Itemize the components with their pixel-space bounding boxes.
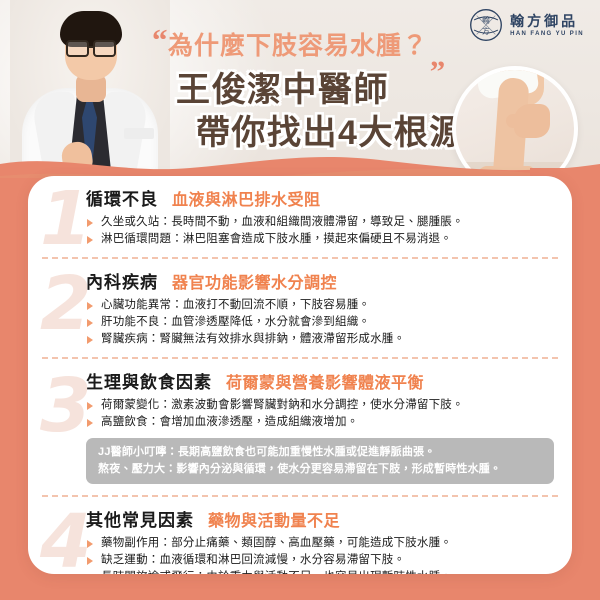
section-1-accent: 血液與淋巴排水受阻 bbox=[172, 186, 321, 210]
note-line: JJ醫師小叮嚀：長期高鹽飲食也可能加重慢性水腫或促進靜脈曲張。 bbox=[98, 444, 542, 461]
headline-question: 為什麼下肢容易水腫？ bbox=[168, 26, 436, 62]
section-2-bullets: 心臟功能異常：血液打不動回流不順，下肢容易腫。 肝功能不良：血管滲透壓降低，水分… bbox=[86, 297, 554, 348]
content-card: 1 循環不良 血液與淋巴排水受阻 久坐或久站：長時間不動，血液和組織間液體滯留，… bbox=[28, 176, 572, 574]
list-item: 久坐或久站：長時間不動，血液和組織間液體滯留，導致足、腿腫脹。 bbox=[86, 214, 554, 231]
section-4: 4 其他常見因素 藥物與活動量不足 藥物副作用：部分止痛藥、類固醇、高血壓藥，可… bbox=[28, 497, 572, 574]
section-4-headings: 其他常見因素 藥物與活動量不足 bbox=[86, 506, 554, 531]
section-1-heading: 循環不良 bbox=[86, 185, 158, 210]
section-3-headings: 生理與飲食因素 荷爾蒙與營養影響體液平衡 bbox=[86, 368, 554, 393]
header-banner: “ 為什麼下肢容易水腫？ „ 王俊潔中醫師 帶你找出4大根源！ 翰 bbox=[0, 0, 600, 178]
brand-wordmark: 翰方御品 HAN FANG YU PIN bbox=[510, 14, 584, 37]
section-2-headings: 內科疾病 器官功能影響水分調控 bbox=[86, 268, 554, 293]
brand-name-cn: 翰方御品 bbox=[510, 14, 578, 28]
section-number-3: 3 bbox=[40, 369, 92, 443]
section-3-bullets: 荷爾蒙變化：激素波動會影響腎臟對鈉和水分調控，使水分滯留下肢。 高鹽飲食：會增加… bbox=[86, 397, 554, 431]
list-item: 藥物副作用：部分止痛藥、類固醇、高血壓藥，可能造成下肢水腫。 bbox=[86, 535, 554, 552]
doctor-name-badge bbox=[124, 128, 154, 139]
section-1-headings: 循環不良 血液與淋巴排水受阻 bbox=[86, 185, 554, 210]
seal-char-1: 翰 bbox=[482, 14, 490, 24]
section-3-heading: 生理與飲食因素 bbox=[86, 368, 212, 393]
section-3: 3 生理與飲食因素 荷爾蒙與營養影響體液平衡 荷爾蒙變化：激素波動會影響腎臟對鈉… bbox=[28, 359, 572, 495]
section-2-body: 內科疾病 器官功能影響水分調控 心臟功能異常：血液打不動回流不順，下肢容易腫。 … bbox=[28, 259, 572, 357]
headline-doctor-name: 王俊潔中醫師 bbox=[176, 62, 389, 111]
seal-emblem-icon: 翰 方 bbox=[469, 8, 503, 42]
brand-name-en: HAN FANG YU PIN bbox=[510, 31, 584, 37]
section-3-accent: 荷爾蒙與營養影響體液平衡 bbox=[226, 369, 424, 393]
section-1-body: 循環不良 血液與淋巴排水受阻 久坐或久站：長時間不動，血液和組織間液體滯留，導致… bbox=[28, 176, 572, 257]
section-2-heading: 內科疾病 bbox=[86, 268, 158, 293]
section-4-body: 其他常見因素 藥物與活動量不足 藥物副作用：部分止痛藥、類固醇、高血壓藥，可能造… bbox=[28, 497, 572, 574]
list-item: 腎臟疾病：腎臟無法有效排水與排鈉，體液滯留形成水腫。 bbox=[86, 331, 554, 348]
section-2: 2 內科疾病 器官功能影響水分調控 心臟功能異常：血液打不動回流不順，下肢容易腫… bbox=[28, 259, 572, 357]
section-number-1: 1 bbox=[40, 182, 92, 256]
list-item: 淋巴循環問題：淋巴阻塞會造成下肢水腫，摸起來偏硬且不易消退。 bbox=[86, 231, 554, 248]
quote-open-icon: “ bbox=[152, 24, 168, 55]
seal-char-2: 方 bbox=[482, 25, 490, 35]
list-item: 荷爾蒙變化：激素波動會影響腎臟對鈉和水分調控，使水分滯留下肢。 bbox=[86, 397, 554, 414]
poster-root: “ 為什麼下肢容易水腫？ „ 王俊潔中醫師 帶你找出4大根源！ 翰 bbox=[0, 0, 600, 600]
section-4-bullets: 藥物副作用：部分止痛藥、類固醇、高血壓藥，可能造成下肢水腫。 缺乏運動：血液循環… bbox=[86, 535, 554, 574]
wave-divider bbox=[0, 150, 600, 178]
brand-logo: 翰 方 翰方御品 HAN FANG YU PIN bbox=[469, 8, 584, 42]
section-4-heading: 其他常見因素 bbox=[86, 506, 194, 531]
section-number-2: 2 bbox=[40, 267, 92, 341]
section-4-accent: 藥物與活動量不足 bbox=[208, 507, 340, 531]
section-1-bullets: 久坐或久站：長時間不動，血液和組織間液體滯留，導致足、腿腫脹。 淋巴循環問題：淋… bbox=[86, 214, 554, 248]
section-1: 1 循環不良 血液與淋巴排水受阻 久坐或久站：長時間不動，血液和組織間液體滯留，… bbox=[28, 176, 572, 257]
list-item: 長時間旅途或飛行：由於重力與活動不足，也容易出現暫時性水腫。 bbox=[86, 569, 554, 574]
doctor-glasses-icon bbox=[66, 40, 116, 54]
massaging-hand bbox=[514, 104, 550, 138]
list-item: 心臟功能異常：血液打不動回流不順，下肢容易腫。 bbox=[86, 297, 554, 314]
note-line: 熬夜、壓力大：影響內分泌與循環，使水分更容易滯留在下肢，形成暫時性水腫。 bbox=[98, 461, 542, 478]
section-2-accent: 器官功能影響水分調控 bbox=[172, 269, 337, 293]
quote-close-icon: „ bbox=[430, 40, 446, 71]
section-3-body: 生理與飲食因素 荷爾蒙與營養影響體液平衡 荷爾蒙變化：激素波動會影響腎臟對鈉和水… bbox=[28, 359, 572, 495]
section-number-4: 4 bbox=[40, 505, 92, 574]
section-3-note-box: JJ醫師小叮嚀：長期高鹽飲食也可能加重慢性水腫或促進靜脈曲張。 熬夜、壓力大：影… bbox=[86, 438, 554, 484]
list-item: 缺乏運動：血液循環和淋巴回流減慢，水分容易滯留下肢。 bbox=[86, 552, 554, 569]
list-item: 肝功能不良：血管滲透壓降低，水分就會滲到組織。 bbox=[86, 314, 554, 331]
list-item: 高鹽飲食：會增加血液滲透壓，造成組織液增加。 bbox=[86, 414, 554, 431]
